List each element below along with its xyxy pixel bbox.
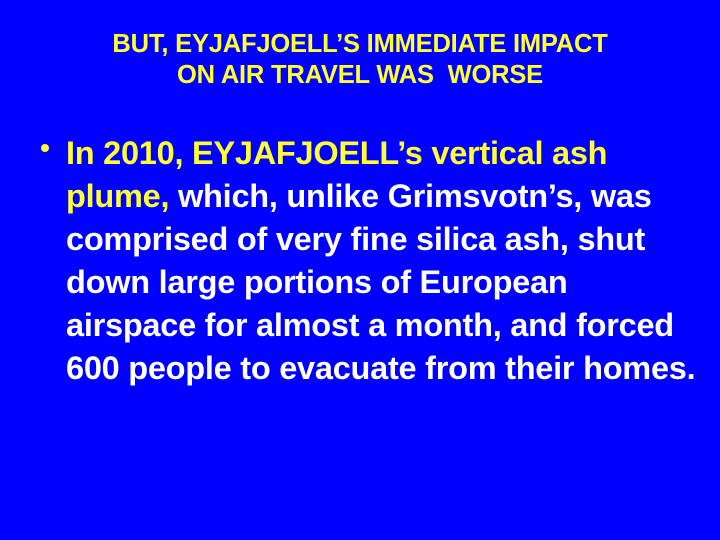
slide-title-line-2: ON AIR TRAVEL WAS WORSE xyxy=(18,60,702,91)
presentation-slide: BUT, EYJAFJOELL’S IMMEDIATE IMPACT ON AI… xyxy=(0,0,720,540)
bullet-dot-icon xyxy=(41,144,49,152)
slide-title-line-1: BUT, EYJAFJOELL’S IMMEDIATE IMPACT xyxy=(18,29,702,60)
slide-body: In 2010, EYJAFJOELL’s vertical ash plume… xyxy=(40,132,700,390)
bullet-item-text: In 2010, EYJAFJOELL’s vertical ash plume… xyxy=(66,132,700,390)
list-item: In 2010, EYJAFJOELL’s vertical ash plume… xyxy=(40,132,700,390)
slide-title: BUT, EYJAFJOELL’S IMMEDIATE IMPACT ON AI… xyxy=(18,29,702,91)
